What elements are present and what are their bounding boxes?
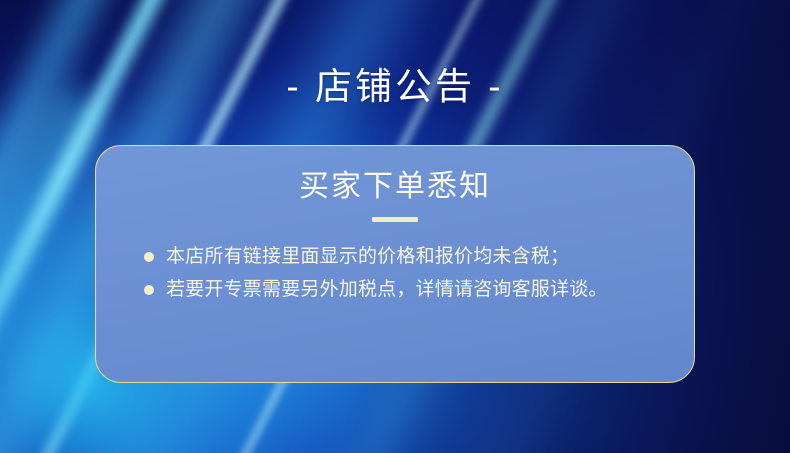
list-item: 若要开专票需要另外加税点，详情请咨询客服详谈。 bbox=[144, 277, 666, 304]
card-heading: 买家下单悉知 bbox=[96, 170, 694, 203]
bullet-dot-icon bbox=[144, 252, 154, 262]
notice-bullet-list: 本店所有链接里面显示的价格和报价均未含税； 若要开专票需要另外加税点，详情请咨询… bbox=[96, 244, 694, 304]
banner-content: - 店铺公告 - 买家下单悉知 本店所有链接里面显示的价格和报价均未含税； 若要… bbox=[0, 0, 790, 453]
buyer-notice-card: 买家下单悉知 本店所有链接里面显示的价格和报价均未含税； 若要开专票需要另外加税… bbox=[95, 145, 695, 383]
store-announcement-banner: - 店铺公告 - 买家下单悉知 本店所有链接里面显示的价格和报价均未含税； 若要… bbox=[0, 0, 790, 453]
bullet-dot-icon bbox=[144, 285, 154, 295]
list-item-text: 本店所有链接里面显示的价格和报价均未含税； bbox=[166, 246, 569, 267]
list-item: 本店所有链接里面显示的价格和报价均未含税； bbox=[144, 244, 666, 271]
page-title: - 店铺公告 - bbox=[0, 68, 790, 105]
list-item-text: 若要开专票需要另外加税点，详情请咨询客服详谈。 bbox=[166, 279, 608, 300]
heading-underline-rule bbox=[372, 217, 418, 222]
